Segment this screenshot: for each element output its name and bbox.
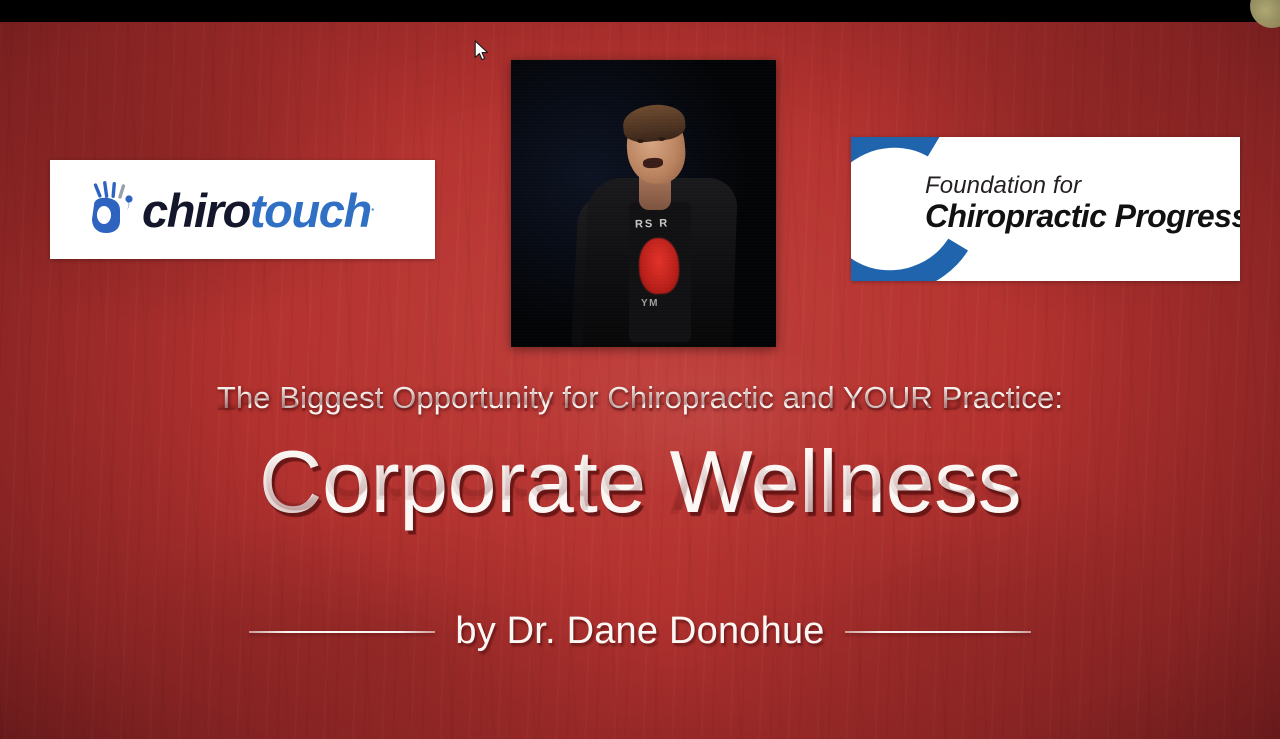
slide-subtitle: The Biggest Opportunity for Chiropractic… — [217, 382, 1063, 415]
top-chrome-bar — [0, 0, 1280, 22]
hand-icon — [84, 181, 136, 239]
slide-byline: by Dr. Dane Donohue — [455, 610, 824, 653]
photo-tshirt-text-bottom: YM — [641, 298, 659, 309]
chirotouch-registered-mark: . — [371, 198, 373, 213]
foundation-chiropractic-progress-logo: Foundation for Chiropractic Progress — [851, 137, 1240, 281]
photo-eye-right — [658, 137, 665, 141]
title-block: Corporate Wellness Corporate Wellness — [0, 434, 1280, 531]
slide-title-reflection: Corporate Wellness — [259, 434, 1021, 531]
speaker-photo: RS R YM — [511, 60, 776, 347]
byline-rule-left — [249, 631, 435, 633]
photo-eye-left — [637, 139, 644, 143]
chirotouch-word-touch: touch — [250, 184, 371, 237]
byline-block: by Dr. Dane Donohue — [0, 610, 1280, 653]
chirotouch-logo: chirotouch. — [50, 160, 435, 259]
subtitle-block: The Biggest Opportunity for Chiropractic… — [0, 382, 1280, 415]
byline-rule-right — [845, 631, 1031, 633]
chirotouch-wordmark: chirotouch. — [142, 187, 373, 234]
slide-title: Corporate Wellness Corporate Wellness — [259, 434, 1021, 531]
presentation-slide: chirotouch. Foundation for Chiropractic … — [0, 22, 1280, 739]
photo-tshirt-text-top: RS R — [635, 217, 670, 230]
chirotouch-word-chiro: chiro — [142, 184, 250, 237]
slide-subtitle-reflection: The Biggest Opportunity for Chiropractic… — [217, 382, 1063, 415]
foundation-logo-line2: Chiropractic Progress — [925, 199, 1240, 234]
foundation-logo-line1: Foundation for — [925, 173, 1240, 198]
